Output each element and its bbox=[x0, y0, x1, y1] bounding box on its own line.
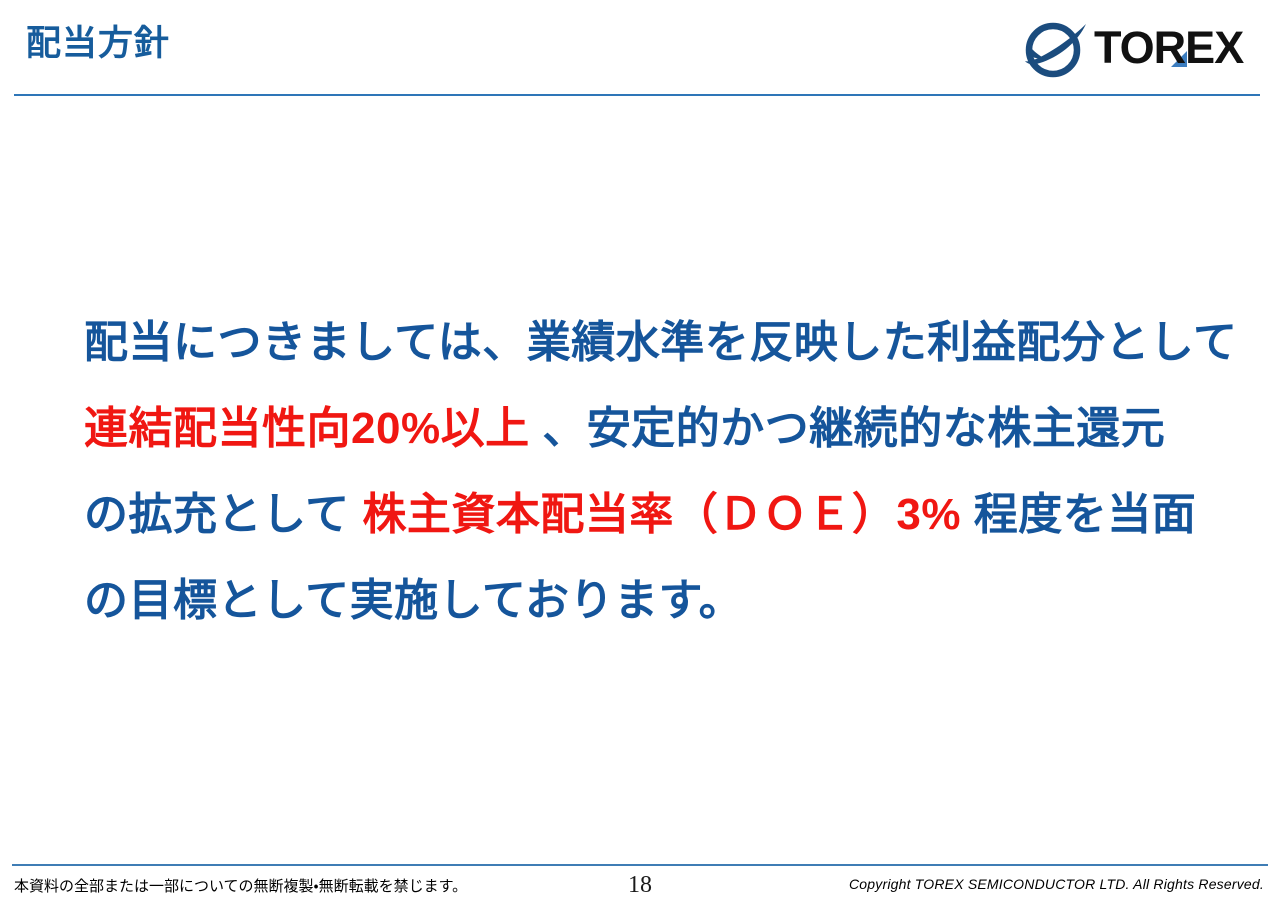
policy-line-2-segment-2: 、安定的かつ継続的な株主還元 bbox=[542, 404, 1165, 453]
page-title: 配当方針 bbox=[26, 26, 170, 61]
footer-divider bbox=[12, 864, 1268, 866]
policy-line-1: 配当につきましては、業績水準を反映した利益配分として bbox=[84, 300, 1214, 386]
policy-line-4-segment-1: の目標として実施しております。 bbox=[84, 576, 743, 625]
policy-line-2-segment-1-emphasis: 連結配当性向20%以上 bbox=[84, 404, 530, 453]
policy-line-3-segment-3: 程度を当面 bbox=[974, 490, 1197, 539]
policy-line-3: の拡充として 株主資本配当率（ＤＯＥ）3% 程度を当面 bbox=[84, 472, 1214, 558]
policy-line-1-segment-1: 配当につきましては、業績水準を反映した利益配分として bbox=[84, 318, 1237, 367]
policy-statement: 配当につきましては、業績水準を反映した利益配分として 連結配当性向20%以上 、… bbox=[84, 300, 1214, 644]
policy-line-2: 連結配当性向20%以上 、安定的かつ継続的な株主還元 bbox=[84, 386, 1214, 472]
footer-copyright: Copyright TOREX SEMICONDUCTOR LTD. All R… bbox=[849, 876, 1264, 892]
slide-footer: 本資料の全部または一部についての無断複製・無断転載を禁じます。 18 Copyr… bbox=[0, 868, 1280, 905]
slide-header: 配当方針 TOREX bbox=[0, 0, 1280, 96]
policy-line-4: の目標として実施しております。 bbox=[84, 558, 1214, 644]
torex-planet-swoosh-icon bbox=[1022, 17, 1088, 79]
wordmark-text: TOREX bbox=[1094, 22, 1244, 73]
torex-wordmark-icon: TOREX bbox=[1094, 17, 1262, 79]
header-divider bbox=[14, 94, 1260, 96]
slide: 配当方針 TOREX 配当につきましては、業績水準を反映した利益配分として bbox=[0, 0, 1280, 905]
policy-line-3-segment-1: の拡充として bbox=[84, 490, 350, 539]
policy-line-3-segment-2-emphasis: 株主資本配当率（ＤＯＥ）3% bbox=[362, 490, 961, 539]
torex-logo: TOREX bbox=[1022, 14, 1262, 82]
